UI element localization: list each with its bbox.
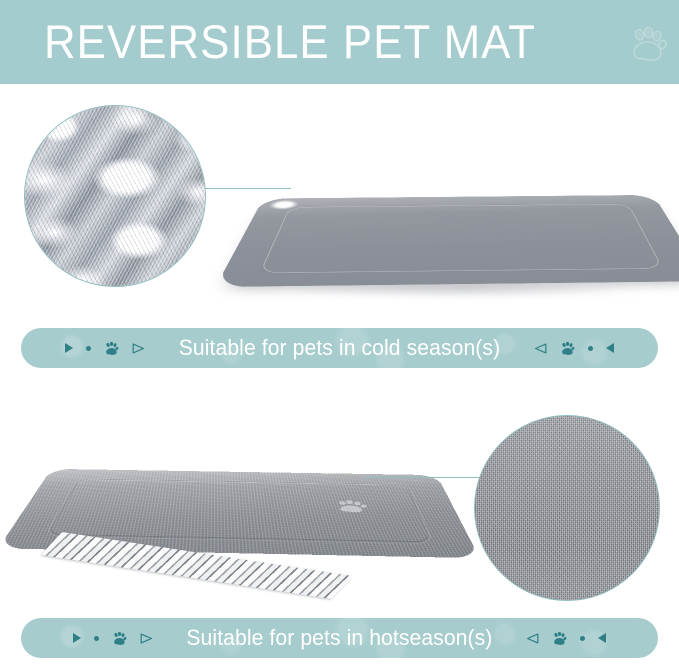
banner-inner: Suitable for pets in hotseason(s) (73, 625, 606, 651)
fleece-texture (24, 105, 206, 287)
banner-ornaments-left (73, 631, 153, 646)
connector-line-bottom (366, 477, 492, 478)
banner-label: Suitable for pets in cold season(s) (165, 335, 513, 361)
triangle-right-outline-icon (132, 343, 145, 354)
pet-mat-pebble-print (258, 134, 666, 297)
paw-embroidery-icon (332, 500, 371, 514)
header-band: REVERSIBLE PET MAT (0, 0, 679, 84)
banner-cold-season: Suitable for pets in cold season(s) (21, 328, 658, 368)
triangle-left-outline-icon (526, 633, 539, 644)
pet-mat-grey-side (36, 410, 440, 570)
fleece-closeup-circle (24, 105, 206, 287)
banner-ornaments-right (534, 341, 614, 356)
paw-print-icon (104, 341, 119, 356)
pebble-print-texture (215, 195, 679, 287)
triangle-right-filled-icon (65, 343, 73, 353)
triangle-right-filled-icon (73, 633, 81, 643)
triangle-left-filled-icon (598, 633, 606, 643)
product-infographic-page: REVERSIBLE PET MAT (0, 0, 679, 666)
triangle-right-outline-icon (140, 633, 153, 644)
grey-fabric-closeup-circle (474, 415, 660, 601)
section-hot-season (0, 382, 679, 618)
mat-top-surface (215, 195, 679, 287)
banner-inner: Suitable for pets in cold season(s) (65, 335, 614, 361)
page-title: REVERSIBLE PET MAT (44, 13, 536, 71)
section-cold-season (0, 84, 679, 320)
mat-bottom-stitch-channel (49, 479, 430, 542)
paw-print-icon (625, 24, 669, 68)
banner-ornaments-right (526, 631, 606, 646)
dot-icon (86, 346, 91, 351)
banner-label: Suitable for pets in hotseason(s) (173, 625, 506, 651)
banner-ornaments-left (65, 341, 145, 356)
paw-print-icon (560, 341, 575, 356)
dot-icon (588, 346, 593, 351)
dot-icon (94, 636, 99, 641)
paw-print-icon (112, 631, 127, 646)
paw-print-icon (552, 631, 567, 646)
grey-heather-texture (474, 415, 660, 601)
triangle-left-filled-icon (606, 343, 614, 353)
dot-icon (580, 636, 585, 641)
triangle-left-outline-icon (534, 343, 547, 354)
banner-hot-season: Suitable for pets in hotseason(s) (21, 618, 658, 658)
